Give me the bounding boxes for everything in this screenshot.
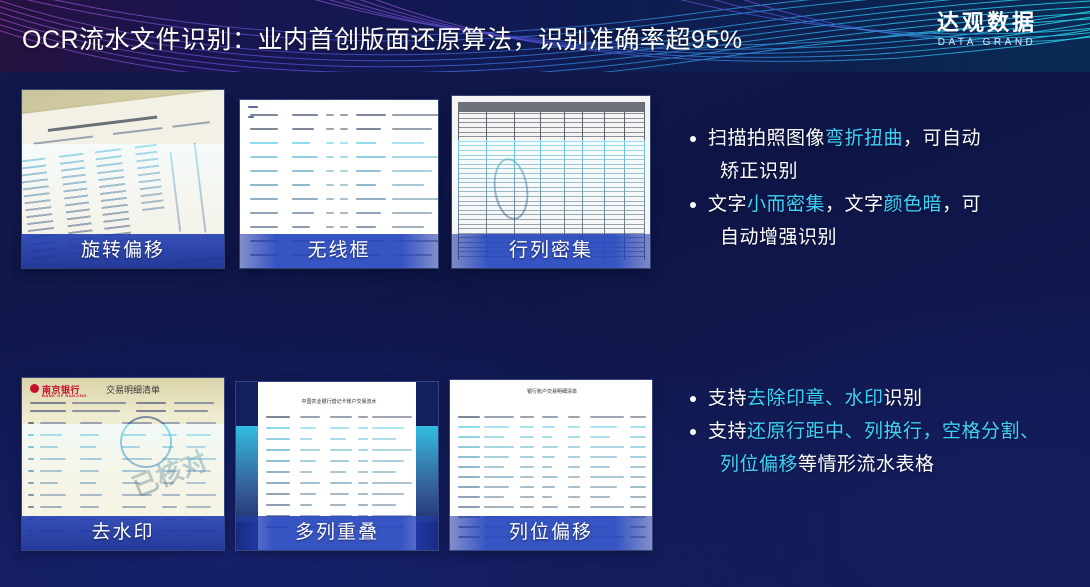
bullet-line-1: 扫描拍照图像弯折扭曲，可自动 <box>708 128 981 149</box>
bullet-group-top: 扫描拍照图像弯折扭曲，可自动 矫正识别 文字小而密集，文字颜色暗，可 自动增强识… <box>686 122 1066 254</box>
bullet-line-1: 支持去除印章、水印识别 <box>708 388 923 409</box>
plain-text: 识别 <box>884 388 923 409</box>
card-caption: 多列重叠 <box>236 516 438 550</box>
plain-text: 自动增强识别 <box>720 227 837 248</box>
statement-title: 银行账户交易明细清单 <box>490 388 614 395</box>
statement-title: 交易明细清单 <box>106 383 160 396</box>
bullet-line-2: 列位偏移等情形流水表格 <box>708 448 1066 481</box>
statement-title: 中国农业银行借记卡账户交易流水 <box>274 398 404 405</box>
plain-text: 扫描拍照图像 <box>708 128 825 149</box>
bullet-item: 文字小而密集，文字颜色暗，可 自动增强识别 <box>686 188 1066 254</box>
plain-text: 矫正识别 <box>720 161 798 182</box>
card-caption: 无线框 <box>240 234 438 268</box>
plain-text: ，文字 <box>825 194 884 215</box>
card-caption: 旋转偏移 <box>22 234 224 268</box>
sample-card-dense[interactable]: 行列密集 <box>452 96 650 268</box>
plain-text: 等情形流水表格 <box>798 454 935 475</box>
bullet-line-2: 矫正识别 <box>708 155 1066 188</box>
plain-text: 支持 <box>708 388 747 409</box>
card-caption: 行列密集 <box>452 234 650 268</box>
sample-card-borderless[interactable]: 无线框 <box>240 100 438 268</box>
card-caption: 去水印 <box>22 516 224 550</box>
highlight-text: 还原行距中、列换行，空格分割、 <box>747 421 1040 442</box>
highlight-text: 小而密集 <box>747 194 825 215</box>
card-caption: 列位偏移 <box>450 516 652 550</box>
plain-text: ，可自动 <box>903 128 981 149</box>
plain-text: 支持 <box>708 421 747 442</box>
highlight-text: 弯折扭曲 <box>825 128 903 149</box>
bullet-line-1: 文字小而密集，文字颜色暗，可 <box>708 194 981 215</box>
highlight-text: 颜色暗 <box>884 194 943 215</box>
highlight-text: 去除印章、水印 <box>747 388 884 409</box>
sample-card-rotated[interactable]: 旋转偏移 <box>22 90 224 268</box>
bullet-line-2: 自动增强识别 <box>708 221 1066 254</box>
sample-card-shifted[interactable]: 银行账户交易明细清单 列位偏移 <box>450 380 652 550</box>
highlight-text: 列位偏移 <box>720 454 798 475</box>
logo-name-cn: 达观数据 <box>902 10 1072 35</box>
stamp-oval-icon <box>490 156 532 222</box>
brand-logo: 达观数据 DATA GRAND <box>902 10 1072 48</box>
bullet-item: 支持去除印章、水印识别 <box>686 382 1066 415</box>
bullet-item: 支持还原行距中、列换行，空格分割、 列位偏移等情形流水表格 <box>686 415 1066 481</box>
plain-text: ，可 <box>942 194 981 215</box>
sample-card-multicolumn[interactable]: 中国农业银行借记卡账户交易流水 多列重叠 <box>236 382 438 550</box>
bullet-line-1: 支持还原行距中、列换行，空格分割、 <box>708 421 1040 442</box>
bullet-group-bottom: 支持去除印章、水印识别 支持还原行距中、列换行，空格分割、 列位偏移等情形流水表… <box>686 382 1066 481</box>
page-title: OCR流水文件识别：业内首创版面还原算法，识别准确率超95% <box>22 20 743 56</box>
plain-text: 文字 <box>708 194 747 215</box>
logo-name-en: DATA GRAND <box>902 37 1072 48</box>
bank-name-en: BANK OF NANJING <box>42 393 87 398</box>
sample-card-watermark[interactable]: 南京银行 BANK OF NANJING 交易明细清单 已核对 去水印 <box>22 378 224 550</box>
bullet-item: 扫描拍照图像弯折扭曲，可自动 矫正识别 <box>686 122 1066 188</box>
